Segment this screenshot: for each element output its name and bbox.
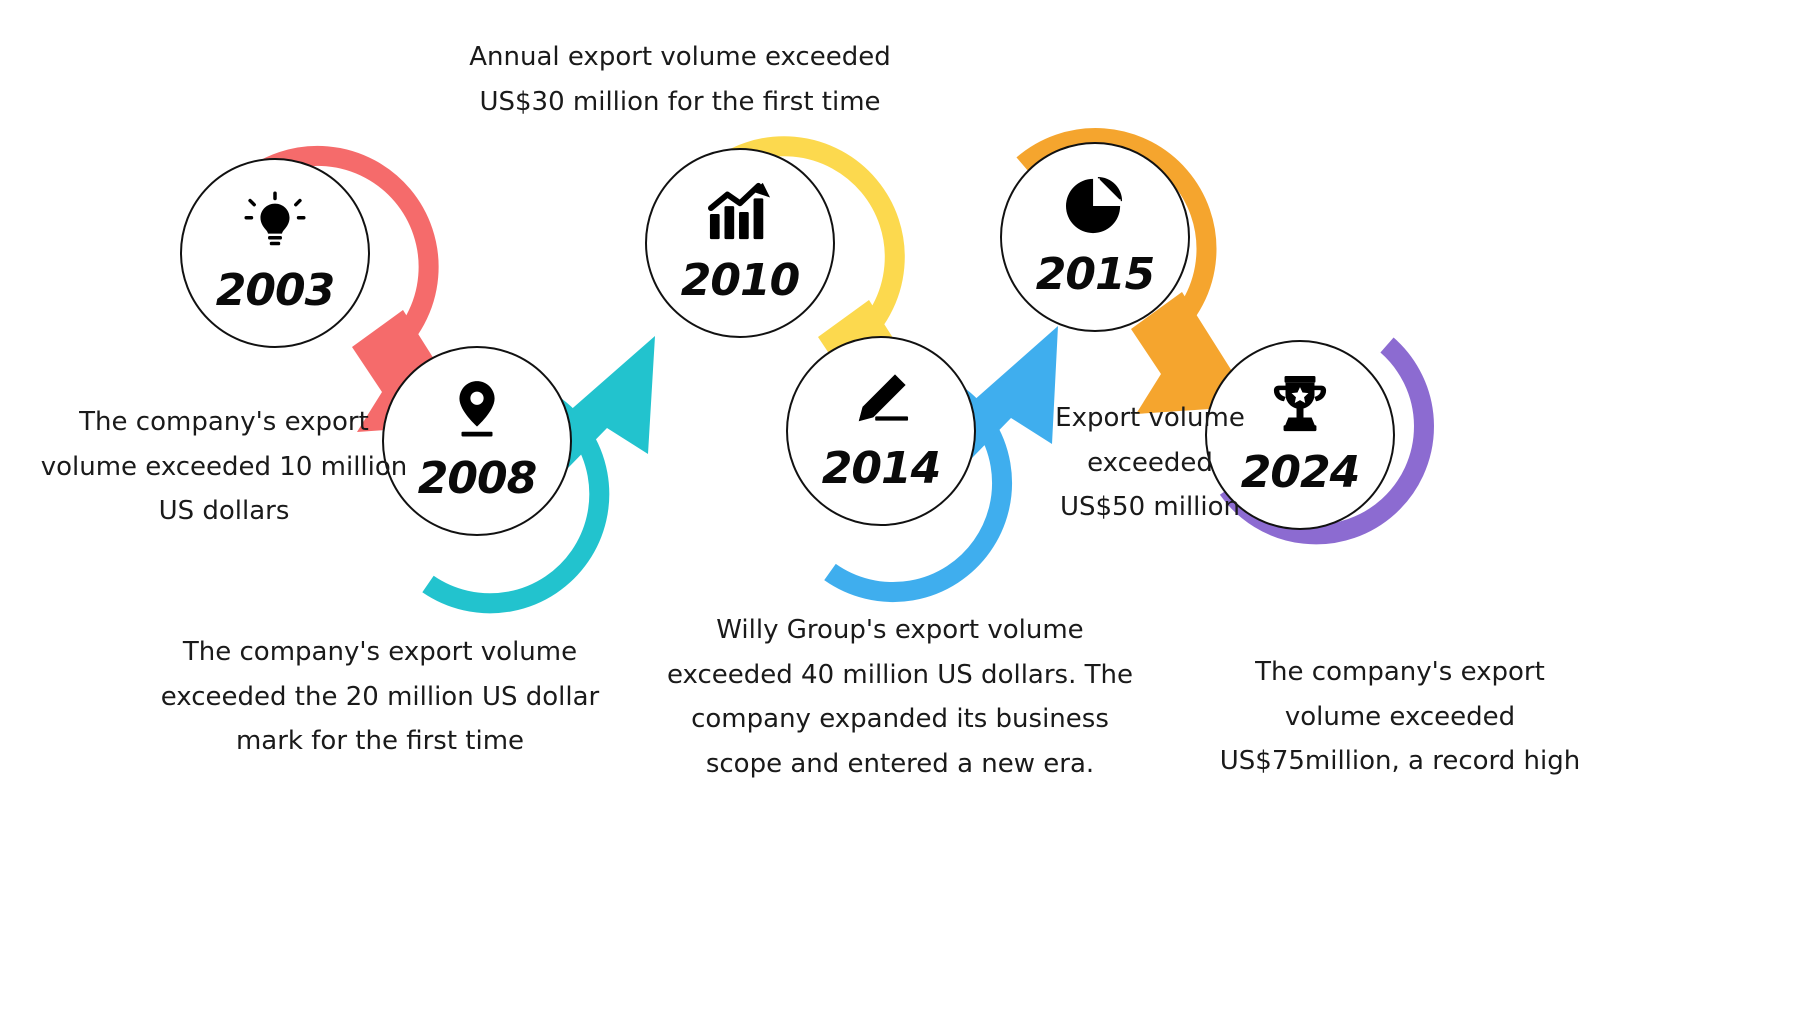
milestone-node-2003[interactable]: 2003: [180, 158, 370, 348]
lightbulb-icon: [182, 186, 368, 258]
milestone-year: 2015: [1002, 249, 1188, 300]
milestone-node-2010[interactable]: 2010: [645, 148, 835, 338]
milestone-year: 2014: [788, 443, 974, 494]
caption-2014: Willy Group's export volume exceeded 40 …: [640, 608, 1160, 787]
caption-2008: The company's export volume exceeded the…: [140, 630, 620, 764]
milestone-year: 2010: [647, 255, 833, 306]
caption-2015: Export volume exceeded US$50 million: [1000, 396, 1300, 530]
timeline-infographic: 2003 2008 2010: [0, 0, 1820, 1024]
caption-2003: The company's export volume exceeded 10 …: [24, 400, 424, 534]
bar-chart-growth-icon: [647, 176, 833, 248]
pencil-edit-icon: [788, 364, 974, 436]
caption-2010: Annual export volume exceeded US$30 mill…: [440, 35, 920, 124]
caption-2024: The company's export volume exceeded US$…: [1190, 650, 1610, 784]
pie-chart-icon: [1002, 170, 1188, 242]
milestone-node-2015[interactable]: 2015: [1000, 142, 1190, 332]
milestone-node-2014[interactable]: 2014: [786, 336, 976, 526]
milestone-year: 2003: [182, 265, 368, 316]
